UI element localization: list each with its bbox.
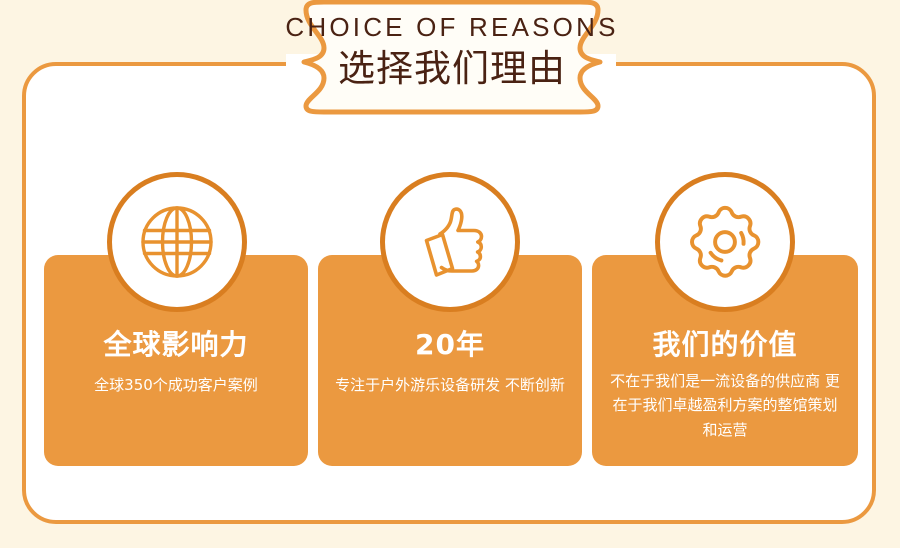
feature-icon-badge-twenty-years: thumbs-up-icon (380, 172, 520, 312)
thumbs-up-icon (406, 198, 494, 286)
feature-card-subtitle: 全球350个成功客户案例 (66, 373, 286, 397)
feature-icon-badge-our-value: gear-icon (655, 172, 795, 312)
promo-banner-stage: CHOICE OF REASONS 选择我们理由 全球影响力 全球350个成功客… (0, 0, 900, 548)
feature-card-subtitle: 专注于户外游乐设备研发 不断创新 (334, 373, 566, 397)
gear-icon (680, 197, 770, 287)
feature-card-title: 全球影响力 (44, 330, 308, 361)
globe-icon (134, 199, 220, 285)
feature-icon-badge-global-influence: globe-icon (107, 172, 247, 312)
feature-card-title: 20年 (318, 330, 582, 361)
feature-card-subtitle: 不在于我们是一流设备的供应商 更在于我们卓越盈利方案的整馆策划和运营 (606, 369, 844, 442)
header-ribbon: CHOICE OF REASONS 选择我们理由 (262, 0, 642, 118)
feature-card-title: 我们的价值 (592, 330, 858, 361)
